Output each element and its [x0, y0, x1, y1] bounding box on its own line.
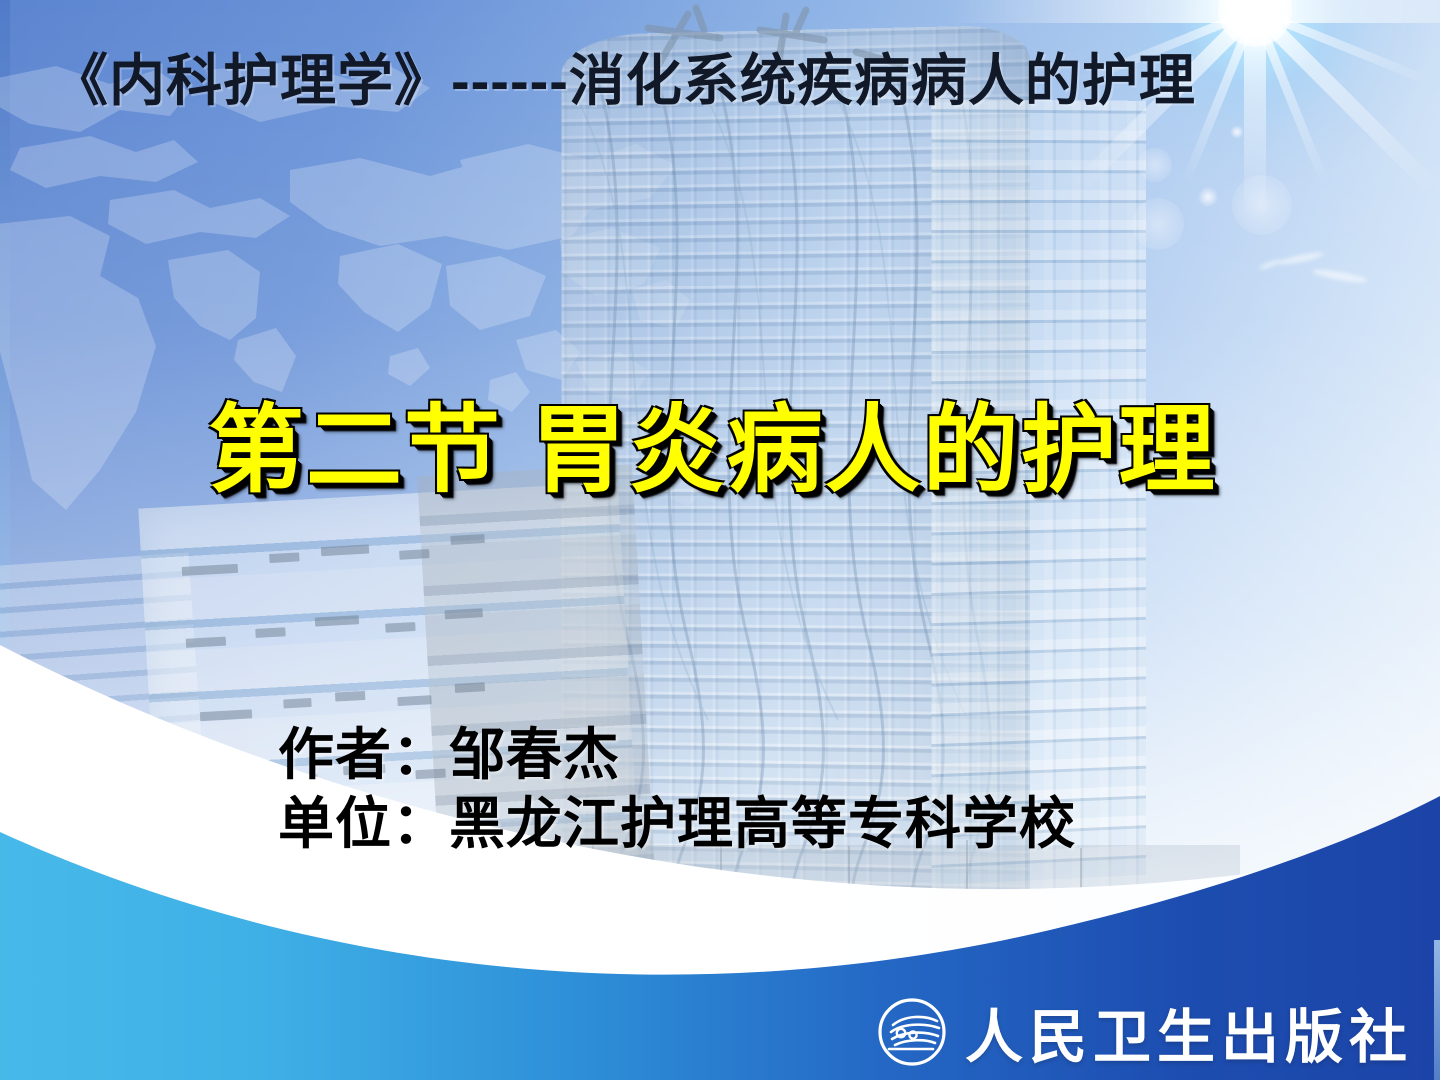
right-edge-highlight — [1434, 940, 1440, 1080]
lens-flare-4 — [1198, 187, 1218, 207]
lens-flare-2 — [1230, 125, 1244, 139]
publisher-name: 人民卫生出版社 — [965, 990, 1413, 1074]
lens-flare-5 — [1132, 198, 1184, 250]
course-header-title: 《内科护理学》------消化系统疾病病人的护理 — [52, 36, 1196, 117]
author-name-line: 作者：邹春杰 — [278, 720, 1076, 789]
page-title: 第二节 胃炎病人的护理 — [208, 372, 1217, 511]
lens-flare-3 — [1232, 175, 1292, 235]
affiliation-line: 单位：黑龙江护理高等专科学校 — [278, 789, 1076, 858]
publisher-logo: 人民卫生出版社 — [875, 990, 1413, 1074]
sun-ray-horizontal — [945, 0, 1440, 23]
presentation-slide: 《内科护理学》------消化系统疾病病人的护理 第二节 胃炎病人的护理 作者：… — [0, 0, 1440, 1080]
pmph-circular-wave-logo-icon — [875, 995, 949, 1069]
lens-flare-1 — [1138, 148, 1172, 182]
author-block: 作者：邹春杰 单位：黑龙江护理高等专科学校 — [278, 720, 1076, 859]
